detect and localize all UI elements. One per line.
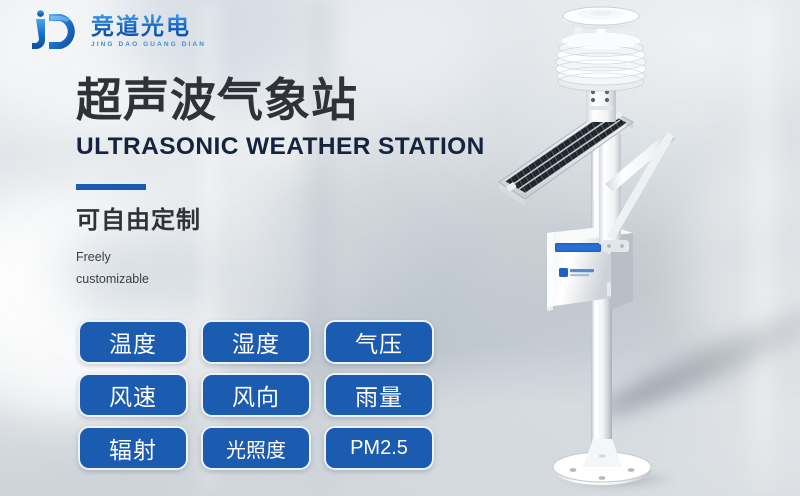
- feature-tag-wind-direction[interactable]: 风向: [201, 373, 311, 417]
- feature-tag-illuminance[interactable]: 光照度: [201, 426, 311, 470]
- feature-tag-pm25[interactable]: PM2.5: [324, 426, 434, 470]
- page-title-cn: 超声波气象站: [76, 76, 485, 124]
- feature-tag-humidity[interactable]: 湿度: [201, 320, 311, 364]
- feature-tag-grid: 温度 湿度 气压 风速 风向 雨量 辐射 光照度 PM2.5: [78, 320, 434, 470]
- feature-tag-pressure[interactable]: 气压: [324, 320, 434, 364]
- brand-name-cn: 竞道光电: [91, 14, 206, 38]
- jd-monogram-icon: [26, 8, 82, 54]
- subheading-block: 可自由定制 Freely customizable: [76, 208, 201, 291]
- ultrasonic-wind-sensor-head: [563, 7, 639, 48]
- weather-station-device: [455, 0, 800, 496]
- title-divider: [76, 184, 146, 190]
- page-title-en: ULTRASONIC WEATHER STATION: [76, 133, 485, 161]
- feature-tag-rainfall[interactable]: 雨量: [324, 373, 434, 417]
- base-flange: [553, 439, 651, 485]
- feature-tag-temperature[interactable]: 温度: [78, 320, 188, 364]
- solar-panel-bracket: [599, 126, 675, 252]
- promo-banner: 竞道光电 JING DAO GUANG DIAN 超声波气象站 ULTRASON…: [0, 0, 800, 496]
- feature-tag-radiation[interactable]: 辐射: [78, 426, 188, 470]
- feature-tag-wind-speed[interactable]: 风速: [78, 373, 188, 417]
- subheading-cn: 可自由定制: [76, 208, 201, 234]
- subheading-en-line2: customizable: [76, 269, 201, 291]
- headline-block: 超声波气象站 ULTRASONIC WEATHER STATION: [76, 76, 485, 190]
- brand-logo: 竞道光电 JING DAO GUANG DIAN: [26, 8, 206, 54]
- brand-name-en: JING DAO GUANG DIAN: [91, 41, 206, 48]
- subheading-en-line1: Freely: [76, 247, 201, 269]
- subheading-en: Freely customizable: [76, 247, 201, 291]
